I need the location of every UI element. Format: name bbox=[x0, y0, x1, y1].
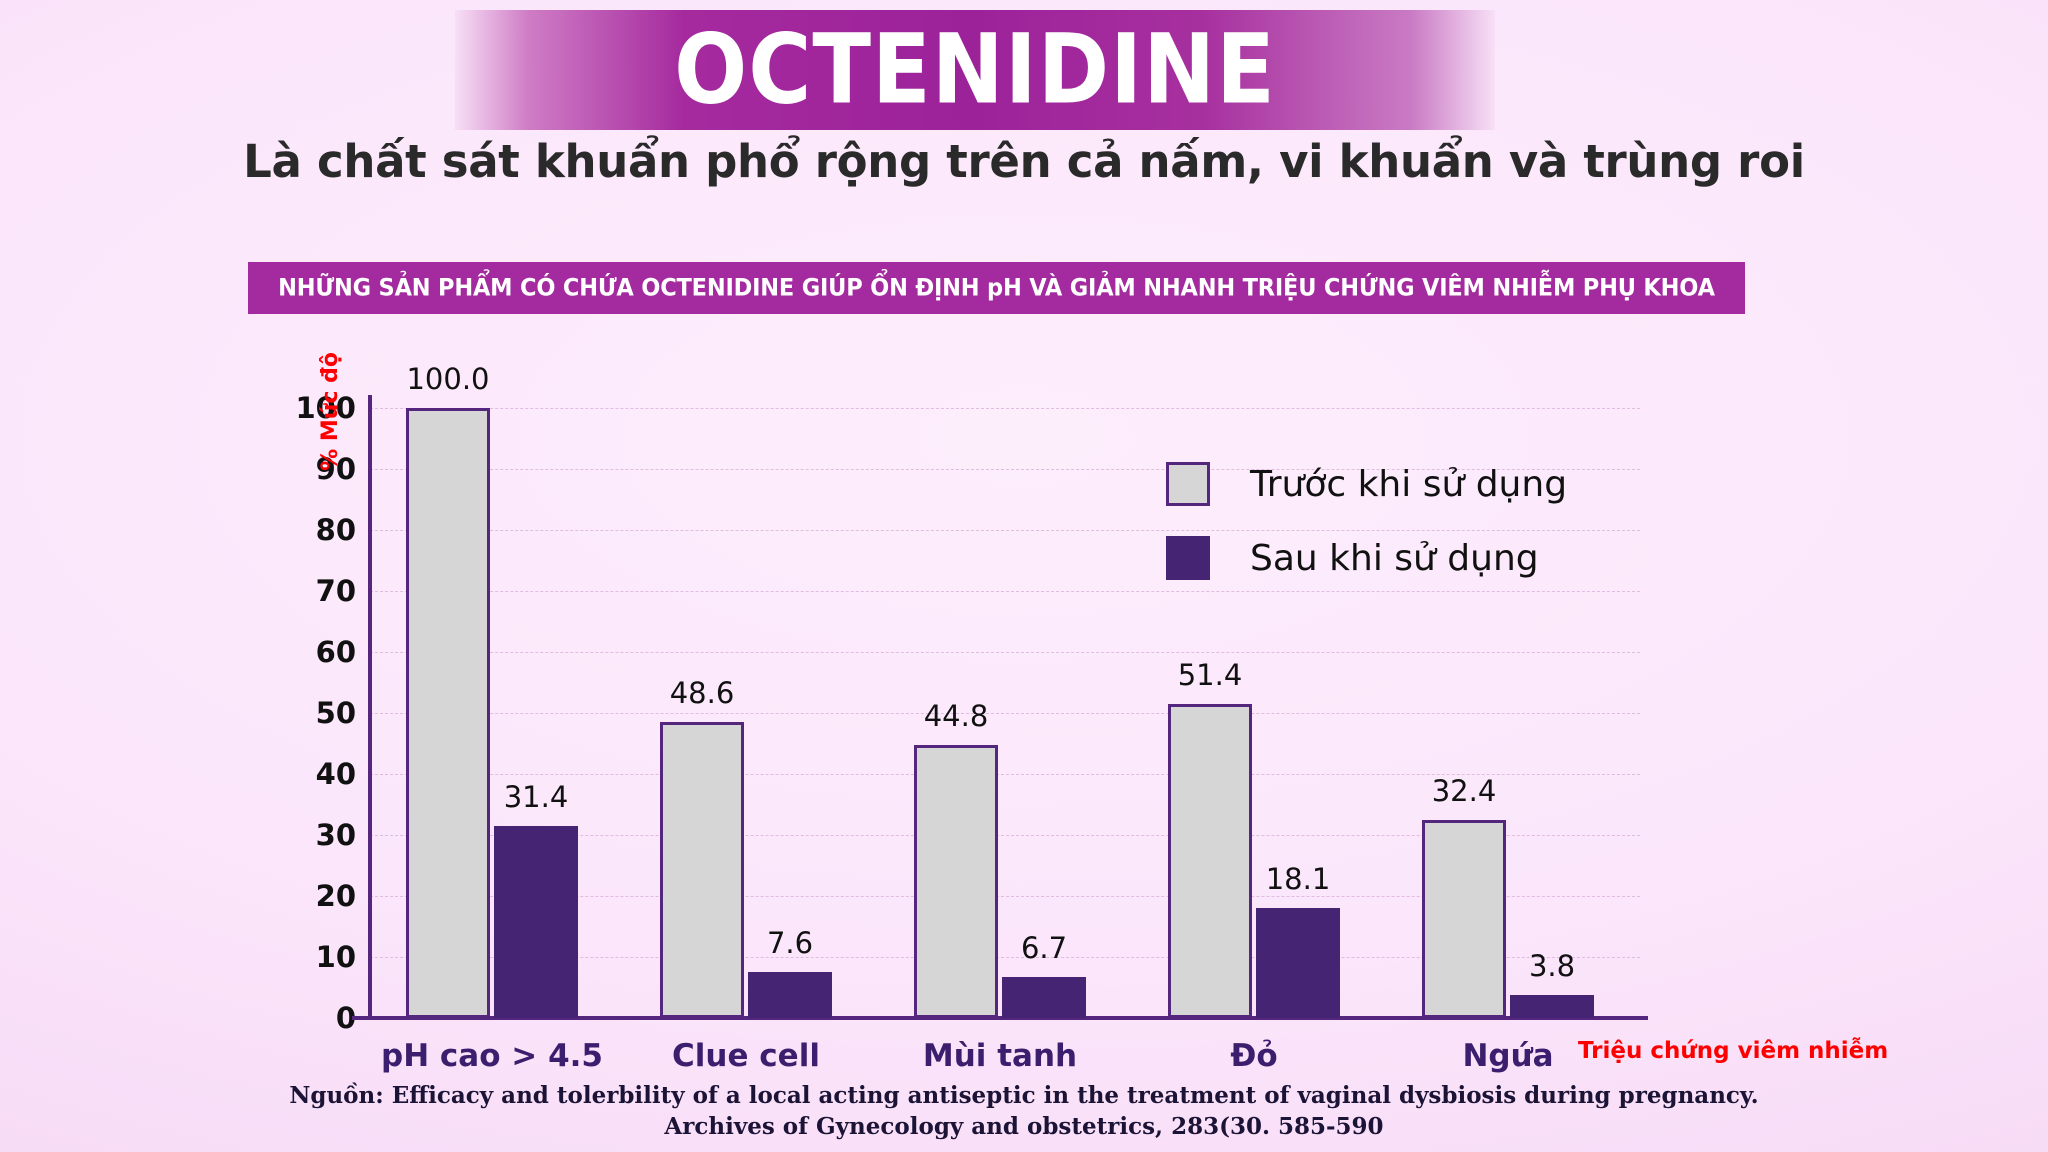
x-axis-category-label: pH cao > 4.5 bbox=[381, 1038, 603, 1074]
bar-value-label: 6.7 bbox=[1021, 931, 1067, 965]
gridline bbox=[370, 652, 1640, 653]
bar-value-label: 100.0 bbox=[406, 362, 489, 396]
bar-value-label: 44.8 bbox=[924, 699, 989, 733]
bar-before[interactable] bbox=[1168, 704, 1252, 1018]
y-axis-tick-label: 80 bbox=[266, 513, 356, 547]
y-axis-tick-label: 0 bbox=[266, 1001, 356, 1035]
legend-swatch-after-icon bbox=[1166, 536, 1210, 580]
bar-before[interactable] bbox=[914, 745, 998, 1018]
legend-label-before: Trước khi sử dụng bbox=[1250, 464, 1567, 505]
legend-item-after[interactable]: Sau khi sử dụng bbox=[1166, 536, 1567, 580]
bar-value-label: 18.1 bbox=[1266, 862, 1331, 896]
chart-legend: Trước khi sử dụng Sau khi sử dụng bbox=[1166, 462, 1567, 610]
y-axis-tick-label: 40 bbox=[266, 757, 356, 791]
bar-after[interactable] bbox=[1256, 908, 1340, 1018]
bar-value-label: 7.6 bbox=[767, 926, 813, 960]
source-line-1: Nguồn: Efficacy and tolerbility of a loc… bbox=[0, 1080, 2048, 1111]
bar-after[interactable] bbox=[1002, 977, 1086, 1018]
y-axis-title: % Mức độ bbox=[318, 352, 343, 471]
bar-chart: 1009080706050403020100 % Mức độ Triệu ch… bbox=[0, 0, 2048, 1152]
bar-value-label: 48.6 bbox=[670, 676, 735, 710]
source-citation: Nguồn: Efficacy and tolerbility of a loc… bbox=[0, 1080, 2048, 1143]
bar-value-label: 51.4 bbox=[1178, 658, 1243, 692]
gridline bbox=[370, 408, 1640, 409]
y-axis-tick-label: 30 bbox=[266, 818, 356, 852]
x-axis-category-label: Ngứa bbox=[1462, 1038, 1553, 1074]
y-axis-tick-label: 10 bbox=[266, 940, 356, 974]
y-axis-line bbox=[368, 395, 372, 1020]
x-axis-title: Triệu chứng viêm nhiễm bbox=[1578, 1038, 1888, 1064]
legend-label-after: Sau khi sử dụng bbox=[1250, 538, 1539, 579]
bar-after[interactable] bbox=[1510, 995, 1594, 1018]
bar-value-label: 31.4 bbox=[504, 780, 569, 814]
legend-item-before[interactable]: Trước khi sử dụng bbox=[1166, 462, 1567, 506]
legend-swatch-before-icon bbox=[1166, 462, 1210, 506]
y-axis-tick-label: 70 bbox=[266, 574, 356, 608]
bar-value-label: 3.8 bbox=[1529, 949, 1575, 983]
bar-before[interactable] bbox=[406, 408, 490, 1018]
y-axis-tick-label: 20 bbox=[266, 879, 356, 913]
bar-after[interactable] bbox=[748, 972, 832, 1018]
x-axis-category-label: Clue cell bbox=[672, 1038, 820, 1074]
x-axis-category-label: Mùi tanh bbox=[923, 1038, 1077, 1074]
y-axis-ticks: 1009080706050403020100 bbox=[246, 0, 356, 1152]
x-axis-category-label: Đỏ bbox=[1230, 1038, 1277, 1074]
source-line-2: Archives of Gynecology and obstetrics, 2… bbox=[0, 1111, 2048, 1142]
bar-before[interactable] bbox=[1422, 820, 1506, 1018]
bar-value-label: 32.4 bbox=[1432, 774, 1497, 808]
gridline bbox=[370, 713, 1640, 714]
bar-after[interactable] bbox=[494, 826, 578, 1018]
y-axis-tick-label: 50 bbox=[266, 696, 356, 730]
bar-before[interactable] bbox=[660, 722, 744, 1018]
y-axis-tick-label: 60 bbox=[266, 635, 356, 669]
